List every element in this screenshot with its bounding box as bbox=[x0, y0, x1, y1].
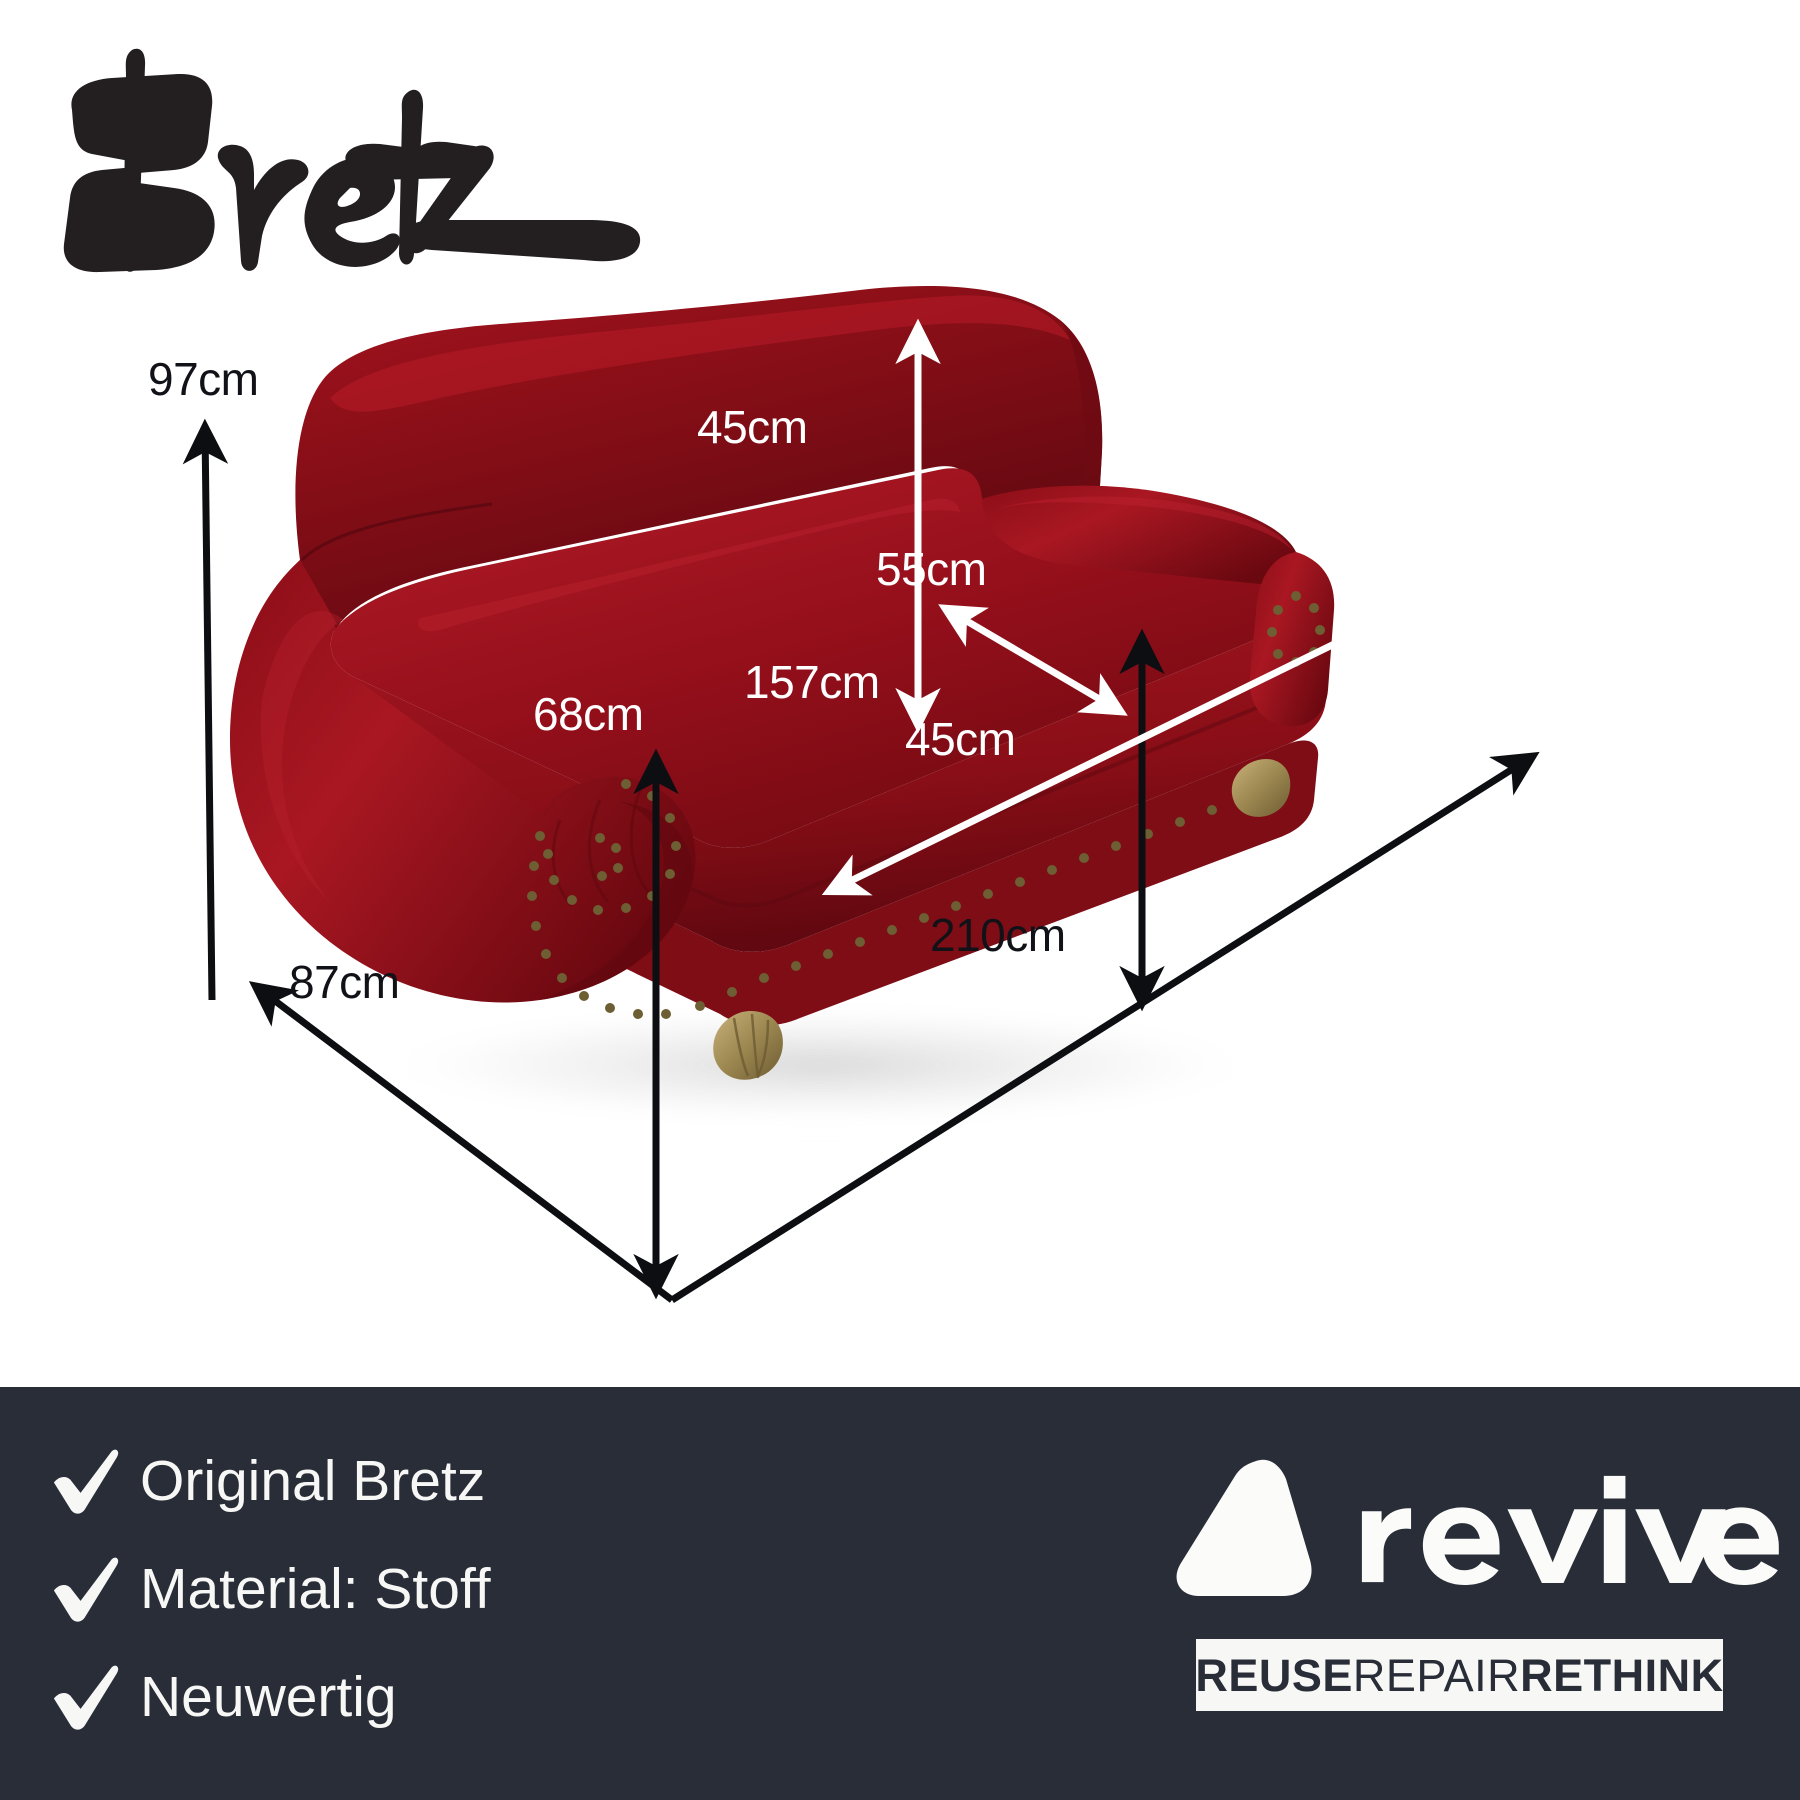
tagline-word-rethink: RETHINK bbox=[1520, 1653, 1724, 1698]
revive-wordmark bbox=[1356, 1452, 1779, 1602]
product-dimension-sheet: 97cm 45cm 55cm 157cm 45cm 68cm 210cm 87c… bbox=[0, 0, 1800, 1800]
dimension-label-seat-depth: 55cm bbox=[876, 542, 986, 596]
feature-label: Material: Stoff bbox=[140, 1561, 491, 1618]
revive-logo: REUSE REPAIR RETHINK bbox=[1172, 1427, 1752, 1757]
feature-item: Material: Stoff bbox=[48, 1535, 948, 1643]
dimension-label-overall-depth: 87cm bbox=[289, 955, 399, 1009]
product-photo-with-dimensions: 97cm 45cm 55cm 157cm 45cm 68cm 210cm 87c… bbox=[0, 0, 1800, 1387]
feature-list: Original Bretz Material: Stoff Neuwertig bbox=[48, 1427, 948, 1751]
dimension-label-seat-width: 157cm bbox=[744, 655, 880, 709]
dimension-label-seat-height: 45cm bbox=[905, 712, 1015, 766]
arrow-overall-height bbox=[205, 430, 212, 1000]
dimension-label-overall-height: 97cm bbox=[148, 352, 258, 406]
tagline-word-repair: REPAIR bbox=[1353, 1653, 1520, 1698]
check-icon bbox=[48, 1444, 140, 1518]
dimension-label-back-height: 45cm bbox=[697, 400, 807, 454]
check-icon bbox=[48, 1660, 140, 1734]
feature-label: Neuwertig bbox=[140, 1669, 397, 1726]
dimension-label-overall-width: 210cm bbox=[930, 908, 1066, 962]
feature-item: Neuwertig bbox=[48, 1643, 948, 1751]
revive-tagline-bar: REUSE REPAIR RETHINK bbox=[1196, 1639, 1723, 1711]
info-banner: Original Bretz Material: Stoff Neuwertig bbox=[0, 1387, 1800, 1800]
check-icon bbox=[48, 1552, 140, 1626]
revive-triangle-mark-icon bbox=[1172, 1452, 1322, 1602]
feature-item: Original Bretz bbox=[48, 1427, 948, 1535]
feature-label: Original Bretz bbox=[140, 1453, 485, 1510]
tagline-word-reuse: REUSE bbox=[1195, 1653, 1353, 1698]
dimension-label-arm-height: 68cm bbox=[533, 687, 643, 741]
